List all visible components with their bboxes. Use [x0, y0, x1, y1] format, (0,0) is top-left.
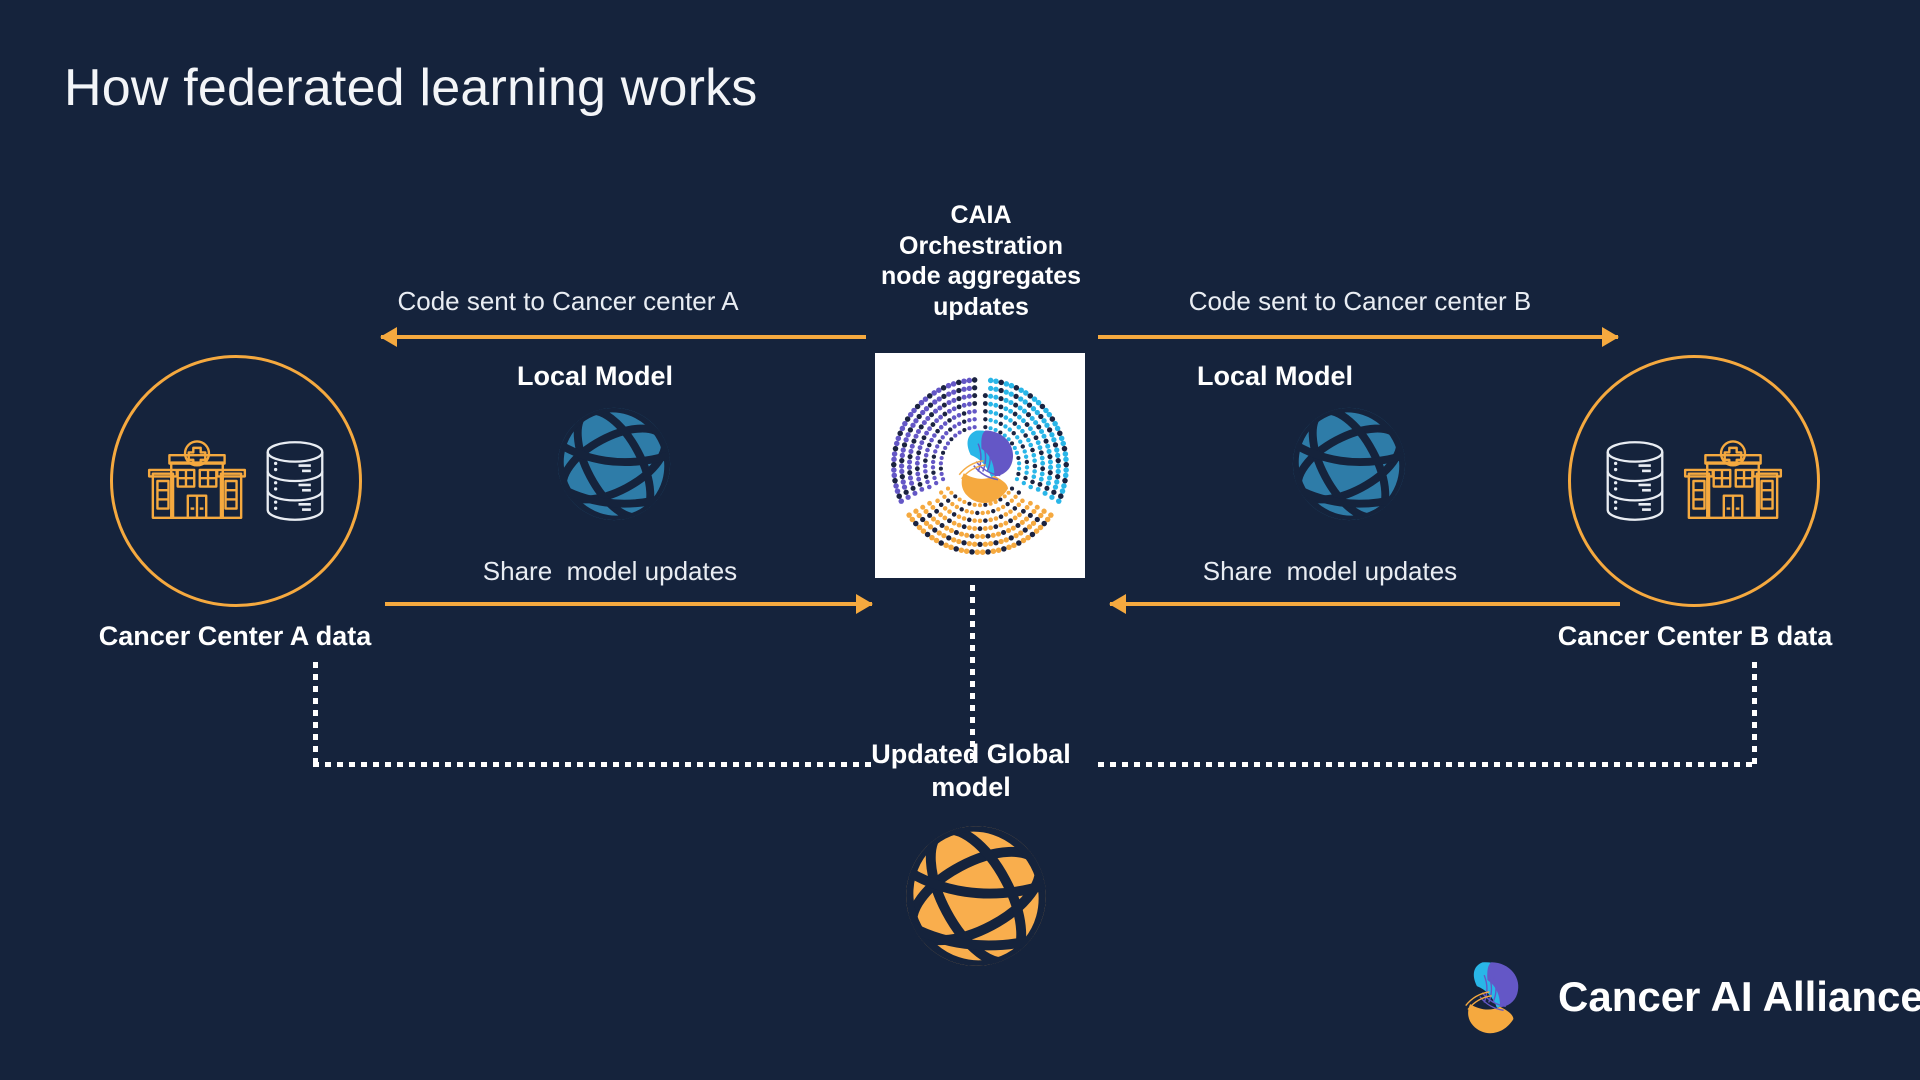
cancer-center-a-circle [110, 355, 362, 607]
right-local-model-icon [1288, 403, 1410, 530]
globe-icon [1288, 403, 1410, 525]
database-icon [1599, 437, 1671, 525]
right-bottom-arrow [1110, 592, 1620, 616]
database-icon [259, 437, 331, 525]
cancer-ai-alliance-logo: Cancer AI Alliance [1432, 945, 1920, 1049]
right-bottom-arrow-label: Share model updates [1120, 556, 1540, 587]
arrow-line [1110, 602, 1620, 606]
three-hands-icon [1432, 945, 1540, 1049]
dotted-line-right-horizontal [1098, 762, 1758, 767]
dotted-line-right-vertical [1752, 662, 1757, 766]
dotted-line-left-horizontal [313, 762, 873, 767]
globe-icon [900, 820, 1052, 972]
left-top-arrow-label: Code sent to Cancer center A [368, 286, 768, 317]
updated-global-model-icon [900, 820, 1052, 977]
page-title: How federated learning works [64, 58, 758, 118]
cancer-center-b-circle [1568, 355, 1820, 607]
caia-orchestration-node [875, 353, 1085, 578]
globe-icon [553, 403, 675, 525]
left-local-model-label: Local Model [470, 360, 720, 393]
left-bottom-arrow [385, 592, 872, 616]
left-top-arrow [381, 325, 866, 349]
arrow-line [381, 335, 866, 339]
arrow-line [385, 602, 872, 606]
cancer-center-b-label: Cancer Center B data [1530, 620, 1860, 653]
right-top-arrow [1098, 325, 1618, 349]
arrow-head-left-icon [1109, 594, 1126, 614]
hospital-icon [1677, 435, 1789, 527]
updated-global-model-label: Updated Global model [858, 738, 1084, 804]
logo-text: Cancer AI Alliance [1558, 973, 1920, 1021]
arrow-head-right-icon [1602, 327, 1619, 347]
caia-orchestration-heading: CAIA Orchestration node aggregates updat… [866, 200, 1096, 322]
arrow-head-left-icon [380, 327, 397, 347]
arrow-head-right-icon [856, 594, 873, 614]
dotted-line-left-vertical [313, 662, 318, 766]
right-top-arrow-label: Code sent to Cancer center B [1140, 286, 1580, 317]
arrow-line [1098, 335, 1618, 339]
cancer-center-a-label: Cancer Center A data [70, 620, 400, 653]
left-bottom-arrow-label: Share model updates [400, 556, 820, 587]
diagram-canvas: How federated learning works CAIA Orches… [0, 0, 1920, 1080]
caia-dot-ring-hands-logo [882, 368, 1078, 564]
right-local-model-label: Local Model [1150, 360, 1400, 393]
hospital-icon [141, 435, 253, 527]
left-local-model-icon [553, 403, 675, 530]
